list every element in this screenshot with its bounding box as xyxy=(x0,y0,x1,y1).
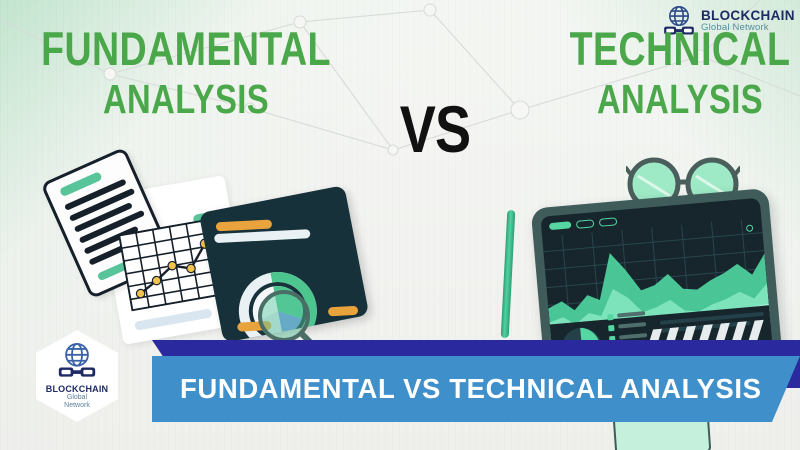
sheet-bottom-bar xyxy=(134,308,212,330)
card-orange-bar xyxy=(216,219,272,231)
heading-left-line2: ANALYSIS xyxy=(37,80,335,119)
badge-tagline-line1: Global xyxy=(67,394,87,402)
banner-title: FUNDAMENTAL VS TECHNICAL ANALYSIS xyxy=(180,373,762,405)
screen-status-pill xyxy=(599,217,618,227)
heading-left-line1: FUNDAMENTAL xyxy=(41,22,331,75)
legend-swatch xyxy=(608,325,615,332)
heading-fundamental-analysis: FUNDAMENTAL ANALYSIS xyxy=(37,26,335,119)
card-white-bar xyxy=(214,229,310,243)
heading-right-line2: ANALYSIS xyxy=(568,80,792,119)
heading-right-line1: TECHNICAL xyxy=(570,22,791,75)
badge-brand-name: BLOCKCHAIN xyxy=(46,384,109,394)
brand-name: BLOCKCHAIN xyxy=(701,9,795,23)
banner-blue: FUNDAMENTAL VS TECHNICAL ANALYSIS xyxy=(152,356,800,422)
legend-line xyxy=(619,333,647,339)
globe-chain-logo-icon xyxy=(54,343,100,383)
screen-status-pill xyxy=(549,221,572,230)
heading-technical-analysis: TECHNICAL ANALYSIS xyxy=(568,26,792,119)
versus-label: VS xyxy=(400,96,471,162)
poster-canvas: BLOCKCHAIN Global Network FUNDAMENTAL AN… xyxy=(0,0,800,450)
legend-swatch xyxy=(607,314,614,321)
badge-tagline-line2: Network xyxy=(64,402,90,410)
legend-line xyxy=(618,322,646,328)
screen-status-pill xyxy=(576,219,595,229)
card-orange-bar-small xyxy=(328,306,358,317)
